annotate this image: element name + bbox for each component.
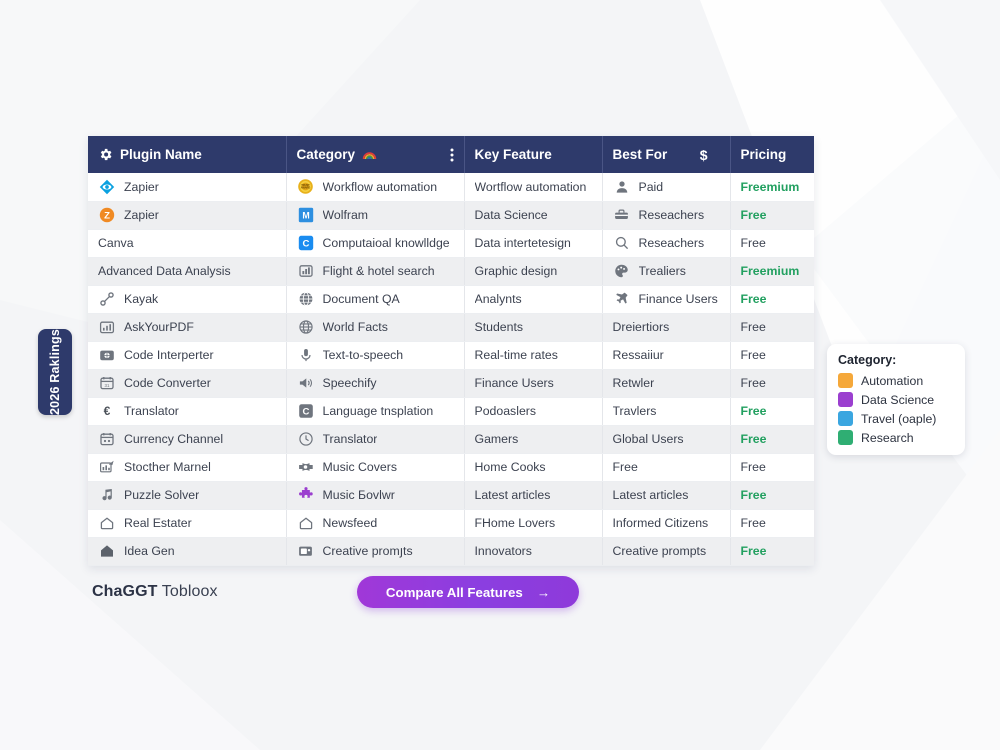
key-feature-cell[interactable]: Home Cooks (464, 453, 602, 481)
pricing-cell[interactable]: Free (730, 285, 814, 313)
best-for-cell[interactable]: Creative prompts (602, 537, 730, 565)
svg-text:31: 31 (105, 383, 110, 388)
key-feature-text: Latest articles (475, 488, 551, 502)
best-for-text: Travlers (613, 404, 657, 418)
pricing-text: Free (741, 236, 766, 250)
category-text: Flight & hotel search (323, 264, 435, 278)
globe-grid-icon (297, 318, 315, 336)
pricing-cell[interactable]: Freemium (730, 257, 814, 285)
pricing-text: Free (741, 376, 766, 390)
key-feature-cell[interactable]: Data Science (464, 201, 602, 229)
category-cell[interactable]: Creative promյts (286, 537, 464, 565)
pricing-cell[interactable]: Free (730, 509, 814, 537)
key-feature-cell[interactable]: Finance Users (464, 369, 602, 397)
dollar-icon: $ (700, 147, 720, 163)
table-row[interactable]: Stocther MarnelMusic CoversHome CooksFre… (88, 453, 814, 481)
category-text: Text-to-speech (323, 348, 404, 362)
home-outline-icon (297, 514, 315, 532)
plugin-name-text: Idea Gen (124, 544, 175, 558)
key-feature-text: Podoaslers (475, 404, 537, 418)
svg-text:Z: Z (104, 211, 110, 222)
column-header-plugin-name-label: Plugin Name (120, 147, 202, 162)
key-feature-text: Home Cooks (475, 460, 546, 474)
plugin-name-text: Translator (124, 404, 179, 418)
plugin-name-text: Zapier (124, 208, 159, 222)
category-cell[interactable]: Music Бovlwr (286, 481, 464, 509)
zapier-diamond-icon (98, 178, 116, 196)
key-feature-cell[interactable]: Students (464, 313, 602, 341)
legend-title: Category: (838, 353, 954, 367)
pricing-cell[interactable]: Free (730, 425, 814, 453)
table-row[interactable]: Real EstaterNewsfeedFHome LoversInformed… (88, 509, 814, 537)
key-feature-cell[interactable]: Latest articles (464, 481, 602, 509)
plugin-name-cell[interactable]: €Translator (88, 397, 286, 425)
pricing-text: Free (741, 208, 767, 222)
key-feature-cell[interactable]: Analynts (464, 285, 602, 313)
wrench-icon (98, 290, 116, 308)
category-text: Language tnsplation (323, 404, 434, 418)
category-text: World Facts (323, 320, 388, 334)
plugin-name-text: Code Converter (124, 376, 211, 390)
svg-text:€: € (104, 404, 111, 418)
calendar-dots-icon (98, 430, 116, 448)
key-feature-text: Wortflow automation (475, 180, 587, 194)
plugin-name-text: Advanced Data Analysis (98, 264, 231, 278)
column-header-plugin-name[interactable]: Plugin Name (88, 136, 286, 173)
plugin-name-cell[interactable]: Advanced Data Analysis (88, 257, 286, 285)
key-feature-cell[interactable]: Real-time rates (464, 341, 602, 369)
plugin-name-text: Real Estater (124, 516, 192, 530)
pricing-text: Free (741, 292, 767, 306)
best-for-cell[interactable]: Free (602, 453, 730, 481)
key-feature-cell[interactable]: FHome Lovers (464, 509, 602, 537)
best-for-text: Reseachers (639, 236, 705, 250)
key-feature-text: FHome Lovers (475, 516, 556, 530)
best-for-text: Free (613, 460, 638, 474)
key-feature-cell[interactable]: Innovators (464, 537, 602, 565)
best-for-text: Dreiertiors (613, 320, 670, 334)
pricing-text: Free (741, 516, 766, 530)
best-for-cell[interactable]: Trealiers (602, 257, 730, 285)
key-feature-text: Innovators (475, 544, 532, 558)
legend-item: Data Science (838, 392, 954, 407)
legend-label: Data Science (861, 393, 934, 407)
legend-label: Research (861, 431, 914, 445)
key-feature-text: Graphic design (475, 264, 558, 278)
plugin-name-cell[interactable]: Idea Gen (88, 537, 286, 565)
category-cell[interactable]: Flight & hotel search (286, 257, 464, 285)
best-for-text: Creative prompts (613, 544, 707, 558)
pricing-text: Free (741, 404, 767, 418)
brand-name-bold: ChaGGT (92, 583, 158, 600)
plugin-name-cell[interactable]: ZZapier (88, 201, 286, 229)
category-text: Creative promյts (323, 544, 413, 558)
column-header-best-for-label: Best For (613, 147, 668, 162)
key-feature-cell[interactable]: Wortflow automation (464, 173, 602, 201)
table-row[interactable]: Currency ChannelTranslatorGamersGlobal U… (88, 425, 814, 453)
comparison-table: Plugin Name Category (88, 136, 814, 566)
column-header-best-for[interactable]: Best For $ (602, 136, 730, 173)
best-for-text: Latest articles (613, 488, 689, 502)
arrow-right-icon: → (537, 585, 550, 600)
globe-solid-icon (297, 290, 315, 308)
table-row[interactable]: Puzzle SolverMusic БovlwrLatest articles… (88, 481, 814, 509)
best-for-text: Informed Citizens (613, 516, 709, 530)
best-for-cell[interactable]: Paid (602, 173, 730, 201)
table-body: ZapierTRUSTAWARDWorkflow automationWortf… (88, 173, 814, 565)
pricing-cell[interactable]: Free (730, 537, 814, 565)
pricing-cell[interactable]: Free (730, 481, 814, 509)
key-feature-cell[interactable]: Data intertetesign (464, 229, 602, 257)
chart-growth-icon (98, 458, 116, 476)
svg-text:C: C (302, 239, 309, 250)
best-for-text: Paid (639, 180, 664, 194)
pricing-cell[interactable]: Free (730, 397, 814, 425)
category-text: Document QA (323, 292, 400, 306)
letter-c-icon: C (297, 234, 315, 252)
pricing-cell[interactable]: Free (730, 313, 814, 341)
pricing-cell[interactable]: Freemium (730, 173, 814, 201)
category-cell[interactable]: CComputaioal knowlldge (286, 229, 464, 257)
category-text: Music Бovlwr (323, 488, 395, 502)
category-text: Music Covers (323, 460, 397, 474)
plugin-name-text: AskYourPDF (124, 320, 194, 334)
rankings-ribbon-tab[interactable]: 2026 Raklings (38, 329, 72, 415)
column-header-key-feature-label: Key Feature (475, 147, 552, 162)
key-feature-cell[interactable]: Gamers (464, 425, 602, 453)
key-feature-text: Gamers (475, 432, 519, 446)
best-for-text: Retwler (613, 376, 655, 390)
plugin-name-cell[interactable]: 31Code Converter (88, 369, 286, 397)
chart-box-icon (98, 318, 116, 336)
category-legend: Category: AutomationData ScienceTravel (… (827, 344, 965, 455)
best-for-cell[interactable]: Informed Citizens (602, 509, 730, 537)
column-header-pricing-label: Pricing (741, 147, 787, 162)
category-text: Translator (323, 432, 378, 446)
plugin-name-text: Kayak (124, 292, 158, 306)
table-row[interactable]: CanvaCComputaioal knowlldgeData intertet… (88, 229, 814, 257)
pricing-cell[interactable]: Free (730, 229, 814, 257)
legend-swatch (838, 430, 853, 445)
best-for-cell[interactable]: Global Users (602, 425, 730, 453)
zapier-z-icon: Z (98, 206, 116, 224)
music-note-icon (98, 486, 116, 504)
category-cell[interactable]: TRUSTAWARDWorkflow automation (286, 173, 464, 201)
legend-swatch (838, 373, 853, 388)
compare-all-features-button[interactable]: Compare All Features → (357, 576, 579, 608)
puzzle-icon (297, 486, 315, 504)
microphone-icon (297, 346, 315, 364)
legend-swatch (838, 411, 853, 426)
best-for-text: Ressaiiur (613, 348, 664, 362)
table-header-row: Plugin Name Category (88, 136, 814, 173)
home-solid-icon (98, 542, 116, 560)
best-for-cell[interactable]: Ressaiiur (602, 341, 730, 369)
best-for-cell[interactable]: Travlers (602, 397, 730, 425)
brand-name-rest: Tobloox (158, 583, 218, 600)
table-row[interactable]: KayakDocument QAAnalyntsFinance UsersFre… (88, 285, 814, 313)
plugin-name-text: Stocther Marnel (124, 460, 211, 474)
pricing-text: Free (741, 544, 767, 558)
plugin-name-cell[interactable]: Real Estater (88, 509, 286, 537)
airplane-icon (613, 290, 631, 308)
pricing-text: Freemium (741, 264, 800, 278)
award-badge-icon: TRUSTAWARD (297, 178, 315, 196)
pricing-text: Free (741, 432, 767, 446)
plugin-name-text: Canva (98, 236, 134, 250)
plugin-name-cell[interactable]: Currency Channel (88, 425, 286, 453)
best-for-text: Trealiers (639, 264, 686, 278)
category-cell[interactable]: Music Covers (286, 453, 464, 481)
table-row[interactable]: Advanced Data AnalysisFlight & hotel sea… (88, 257, 814, 285)
clock-icon (297, 430, 315, 448)
brand-wordmark: ChaGGT Tobloox (92, 583, 218, 601)
svg-text:C: C (302, 407, 309, 418)
key-feature-text: Real-time rates (475, 348, 558, 362)
plugin-name-text: Code Interperter (124, 348, 214, 362)
plugin-name-cell[interactable]: Zapier (88, 173, 286, 201)
plugin-name-text: Puzzle Solver (124, 488, 199, 502)
category-cell[interactable]: Newsfeed (286, 509, 464, 537)
speaker-icon (297, 374, 315, 392)
table-header: Plugin Name Category (88, 136, 814, 173)
key-feature-text: Finance Users (475, 376, 554, 390)
plugin-name-cell[interactable]: Code Interperter (88, 341, 286, 369)
pricing-cell[interactable]: Free (730, 369, 814, 397)
best-for-cell[interactable]: Dreiertiors (602, 313, 730, 341)
briefcase-icon (613, 206, 631, 224)
category-cell[interactable]: MWolfram (286, 201, 464, 229)
column-header-pricing[interactable]: Pricing (730, 136, 814, 173)
rankings-ribbon-label: 2026 Raklings (48, 329, 62, 415)
plugin-name-cell[interactable]: Stocther Marnel (88, 453, 286, 481)
best-for-cell[interactable]: Latest articles (602, 481, 730, 509)
table-row[interactable]: AskYourPDFWorld FactsStudentsDreiertiors… (88, 313, 814, 341)
legend-swatch (838, 392, 853, 407)
best-for-text: Global Users (613, 432, 684, 446)
legend-item: Research (838, 430, 954, 445)
best-for-text: Reseachers (639, 208, 705, 222)
plugin-name-cell[interactable]: AskYourPDF (88, 313, 286, 341)
plugin-name-cell[interactable]: Canva (88, 229, 286, 257)
table-row[interactable]: 31Code ConverterSpeechifyFinance UsersRe… (88, 369, 814, 397)
camera-globe-icon (98, 346, 116, 364)
category-cell[interactable]: Translator (286, 425, 464, 453)
category-text: Workflow automation (323, 180, 438, 194)
search-icon (613, 234, 631, 252)
legend-label: Travel (oaple) (861, 412, 936, 426)
category-text: Wolfram (323, 208, 369, 222)
best-for-cell[interactable]: Reseachers (602, 201, 730, 229)
table-row[interactable]: ZapierTRUSTAWARDWorkflow automationWortf… (88, 173, 814, 201)
wolfram-icon: M (297, 206, 315, 224)
column-header-category-label: Category (297, 147, 356, 162)
column-header-category[interactable]: Category (286, 136, 464, 173)
key-feature-cell[interactable]: Podoaslers (464, 397, 602, 425)
category-cell[interactable]: Speechify (286, 369, 464, 397)
category-cell[interactable]: Text-to-speech (286, 341, 464, 369)
key-feature-text: Students (475, 320, 524, 334)
compare-all-features-label: Compare All Features (386, 585, 523, 600)
plugin-name-cell[interactable]: Puzzle Solver (88, 481, 286, 509)
gear-icon (98, 147, 113, 162)
comparison-table-container: Plugin Name Category (88, 136, 814, 566)
rainbow-icon (362, 149, 377, 160)
best-for-cell[interactable]: Retwler (602, 369, 730, 397)
image-icon (297, 542, 315, 560)
table-row[interactable]: €TranslatorCLanguage tnsplationPodoasler… (88, 397, 814, 425)
best-for-text: Finance Users (639, 292, 718, 306)
key-feature-text: Data Science (475, 208, 548, 222)
best-for-cell[interactable]: Finance Users (602, 285, 730, 313)
table-row[interactable]: Code InterperterText-to-speechReal-time … (88, 341, 814, 369)
pricing-text: Free (741, 348, 766, 362)
euro-icon: € (98, 402, 116, 420)
pricing-cell[interactable]: Free (730, 201, 814, 229)
pricing-cell[interactable]: Free (730, 341, 814, 369)
svg-text:AWARD: AWARD (301, 186, 311, 190)
key-feature-text: Data intertetesign (475, 236, 571, 250)
key-feature-cell[interactable]: Graphic design (464, 257, 602, 285)
plugin-name-text: Currency Channel (124, 432, 223, 446)
bar-chart-icon (297, 262, 315, 280)
svg-text:M: M (302, 211, 309, 221)
pricing-text: Free (741, 488, 767, 502)
pricing-text: Free (741, 320, 766, 334)
table-row[interactable]: Idea GenCreative promյtsInnovatorsCreati… (88, 537, 814, 565)
category-cell[interactable]: CLanguage tnsplation (286, 397, 464, 425)
gear-blob-icon (297, 458, 315, 476)
category-text: Speechify (323, 376, 377, 390)
column-header-key-feature[interactable]: Key Feature (464, 136, 602, 173)
table-row[interactable]: ZZapierMWolframData ScienceReseachersFre… (88, 201, 814, 229)
pricing-cell[interactable]: Free (730, 453, 814, 481)
pricing-text: Free (741, 460, 766, 474)
legend-item: Travel (oaple) (838, 411, 954, 426)
letter-c-dark-icon: C (297, 402, 315, 420)
home-outline-icon (98, 514, 116, 532)
category-text: Computaioal knowlldge (323, 236, 450, 250)
category-cell[interactable]: Document QA (286, 285, 464, 313)
best-for-cell[interactable]: Reseachers (602, 229, 730, 257)
pricing-text: Freemium (741, 180, 800, 194)
category-text: Newsfeed (323, 516, 378, 530)
palette-icon (613, 262, 631, 280)
calendar-icon: 31 (98, 374, 116, 392)
plugin-name-cell[interactable]: Kayak (88, 285, 286, 313)
legend-label: Automation (861, 374, 923, 388)
category-cell[interactable]: World Facts (286, 313, 464, 341)
plugin-name-text: Zapier (124, 180, 159, 194)
key-feature-text: Analynts (475, 292, 522, 306)
person-icon (613, 178, 631, 196)
legend-item: Automation (838, 373, 954, 388)
kebab-menu-icon[interactable] (450, 148, 454, 162)
